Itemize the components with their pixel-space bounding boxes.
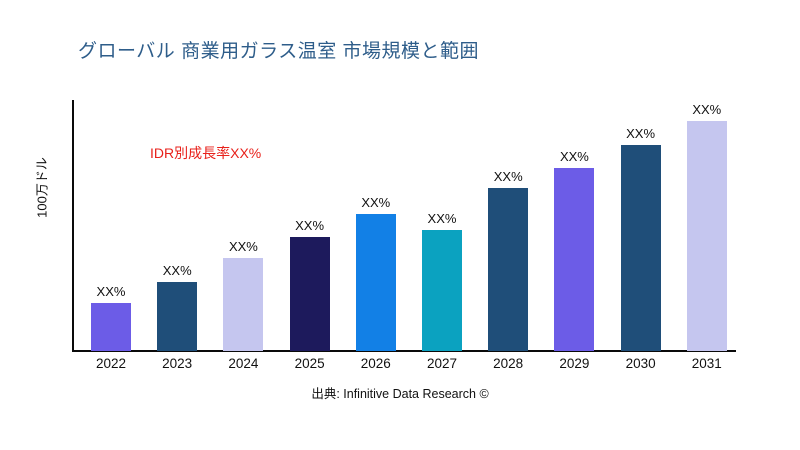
bar-group-2029[interactable]: XX% <box>537 100 611 351</box>
bar-2023[interactable] <box>157 282 197 351</box>
bar-value-label-2031: XX% <box>670 102 744 117</box>
bar-2028[interactable] <box>488 188 528 351</box>
source-note: 出典: Infinitive Data Research © <box>0 383 800 402</box>
bar-group-2027[interactable]: XX% <box>405 100 479 351</box>
x-tick-2026: 2026 <box>339 356 413 371</box>
bar-value-label-2026: XX% <box>339 195 413 210</box>
x-tick-2028: 2028 <box>471 356 545 371</box>
bar-value-label-2022: XX% <box>74 284 148 299</box>
bar-group-2030[interactable]: XX% <box>604 100 678 351</box>
x-tick-2023: 2023 <box>140 356 214 371</box>
x-tick-2031: 2031 <box>670 356 744 371</box>
bar-group-2024[interactable]: XX% <box>206 100 280 351</box>
x-tick-2025: 2025 <box>273 356 347 371</box>
bar-2024[interactable] <box>223 258 263 351</box>
bar-2022[interactable] <box>91 303 131 351</box>
bar-value-label-2027: XX% <box>405 211 479 226</box>
bar-value-label-2028: XX% <box>471 169 545 184</box>
bar-group-2025[interactable]: XX% <box>273 100 347 351</box>
bar-2030[interactable] <box>621 145 661 351</box>
x-tick-2029: 2029 <box>537 356 611 371</box>
bar-value-label-2030: XX% <box>604 126 678 141</box>
plot-area: XX%XX%XX%XX%XX%XX%XX%XX%XX%XX% <box>74 100 736 351</box>
y-axis-label: 100万ドル <box>32 128 51 248</box>
bar-2026[interactable] <box>356 214 396 351</box>
x-tick-2027: 2027 <box>405 356 479 371</box>
bar-value-label-2025: XX% <box>273 218 347 233</box>
bar-group-2031[interactable]: XX% <box>670 100 744 351</box>
bar-group-2026[interactable]: XX% <box>339 100 413 351</box>
bar-group-2028[interactable]: XX% <box>471 100 545 351</box>
bar-2027[interactable] <box>422 230 462 351</box>
bar-2029[interactable] <box>554 168 594 351</box>
x-axis-tick-labels: 2022202320242025202620272028202920302031 <box>74 356 736 378</box>
bar-value-label-2024: XX% <box>206 239 280 254</box>
x-tick-2024: 2024 <box>206 356 280 371</box>
bar-group-2022[interactable]: XX% <box>74 100 148 351</box>
x-tick-2022: 2022 <box>74 356 148 371</box>
x-tick-2030: 2030 <box>604 356 678 371</box>
bar-value-label-2029: XX% <box>537 149 611 164</box>
page-title: グローバル 商業用ガラス温室 市場規模と範囲 <box>78 36 479 63</box>
bar-2031[interactable] <box>687 121 727 351</box>
bar-value-label-2023: XX% <box>140 263 214 278</box>
bar-2025[interactable] <box>290 237 330 351</box>
bar-group-2023[interactable]: XX% <box>140 100 214 351</box>
chart-figure: グローバル 商業用ガラス温室 市場規模と範囲 100万ドル IDR別成長率XX%… <box>0 0 800 450</box>
